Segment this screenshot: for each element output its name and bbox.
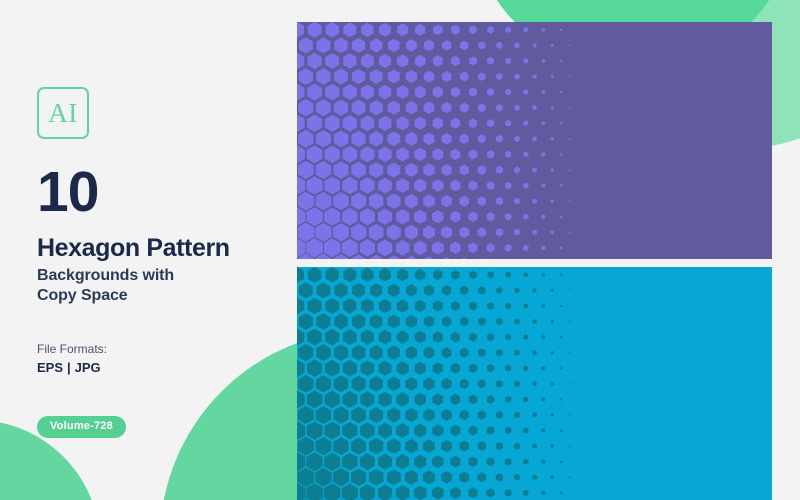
file-formats-value: EPS|JPG: [37, 361, 101, 374]
page-subtitle-line-1: Backgrounds with: [37, 266, 174, 286]
purple-hexagon-panel: [297, 22, 772, 259]
poster-canvas: AI 10 Hexagon Pattern Backgrounds with C…: [0, 0, 800, 500]
page-subtitle: Backgrounds with Copy Space: [37, 266, 174, 307]
file-formats-label: File Formats:: [37, 343, 107, 355]
info-column: AI 10 Hexagon Pattern Backgrounds with C…: [37, 0, 287, 500]
page-subtitle-line-2: Copy Space: [37, 286, 174, 306]
page-title: Hexagon Pattern: [37, 236, 230, 261]
file-format-eps: EPS: [37, 360, 63, 375]
ai-badge-label: AI: [48, 100, 78, 127]
file-format-jpg: JPG: [75, 360, 101, 375]
volume-badge: Volume-728: [37, 416, 126, 438]
pack-count: 10: [37, 164, 98, 221]
ai-file-format-icon: AI: [37, 87, 89, 139]
file-formats-separator: |: [63, 360, 75, 375]
teal-hexagon-panel: [297, 267, 772, 500]
